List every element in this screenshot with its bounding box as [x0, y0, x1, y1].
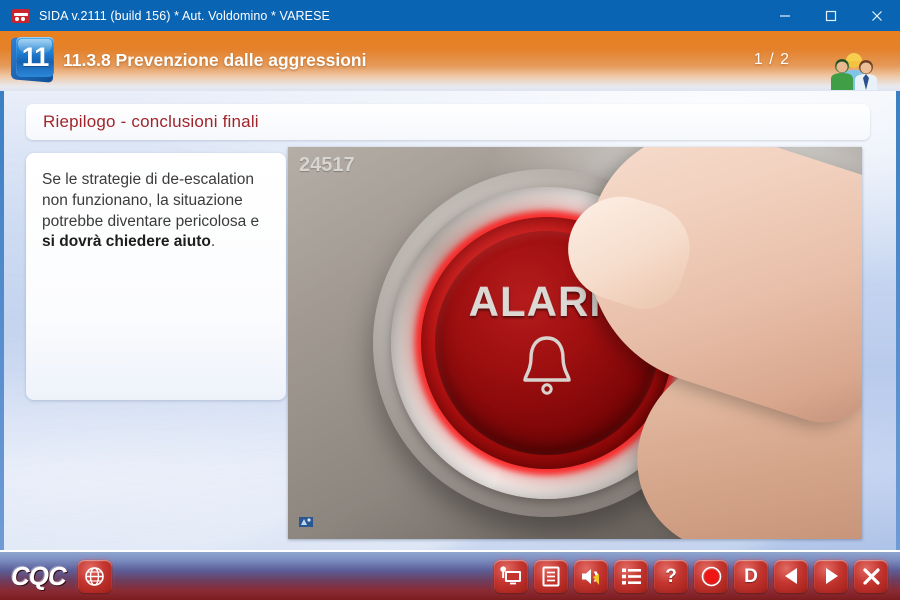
image-id-label: 24517 [299, 154, 355, 177]
chapter-badge-icon: 11 [11, 36, 55, 82]
people-group-icon [828, 52, 880, 90]
document-icon[interactable] [534, 560, 568, 593]
lesson-paragraph: Se le strategie di de-escalation non fun… [42, 170, 270, 253]
bell-icon [516, 332, 578, 403]
lesson-text-part2: . [211, 233, 215, 250]
subtitle-text: Riepilogo - conclusioni finali [43, 112, 259, 132]
list-icon[interactable] [614, 560, 648, 593]
speaker-icon[interactable] [574, 560, 608, 593]
record-icon[interactable] [694, 560, 728, 593]
next-icon[interactable] [814, 560, 848, 593]
page-indicator: 1 / 2 [754, 51, 790, 69]
cqc-logo: CQC [11, 561, 66, 592]
dictionary-icon[interactable]: D [734, 560, 768, 593]
slide-content: Riepilogo - conclusioni finali Se le str… [0, 91, 900, 550]
bottom-toolbar: CQC [0, 550, 900, 600]
help-icon[interactable]: ? [654, 560, 688, 593]
screen-share-icon[interactable] [494, 560, 528, 593]
page-title: 11.3.8 Prevenzione dalle aggressioni [63, 50, 366, 71]
module-header: 11 11.3.8 Prevenzione dalle aggressioni … [0, 31, 900, 91]
dictionary-label: D [744, 567, 758, 586]
window-title-bar: SIDA v.2111 (build 156) * Aut. Voldomino… [0, 0, 900, 31]
truck-icon [12, 9, 30, 23]
left-edge [0, 91, 4, 550]
lesson-image[interactable]: 24517 ALARM [288, 147, 862, 539]
lesson-text-card: Se le strategie di de-escalation non fun… [26, 153, 286, 400]
minimize-icon[interactable] [762, 0, 808, 31]
subtitle-bar: Riepilogo - conclusioni finali [26, 104, 870, 140]
window-title: SIDA v.2111 (build 156) * Aut. Voldomino… [39, 9, 330, 23]
window-controls [762, 0, 900, 31]
previous-icon[interactable] [774, 560, 808, 593]
lesson-text-part1: Se le strategie di de-escalation non fun… [42, 171, 259, 230]
globe-icon[interactable] [78, 560, 112, 593]
lesson-text-bold: si dovrà chiedere aiuto [42, 233, 211, 250]
maximize-icon[interactable] [808, 0, 854, 31]
right-edge [896, 91, 900, 550]
close-icon[interactable] [854, 0, 900, 31]
help-label: ? [665, 567, 677, 586]
application-window: SIDA v.2111 (build 156) * Aut. Voldomino… [0, 0, 900, 600]
close-lesson-icon[interactable] [854, 560, 888, 593]
watermark-icon [298, 513, 314, 529]
toolbar-buttons: ? D [491, 560, 891, 593]
